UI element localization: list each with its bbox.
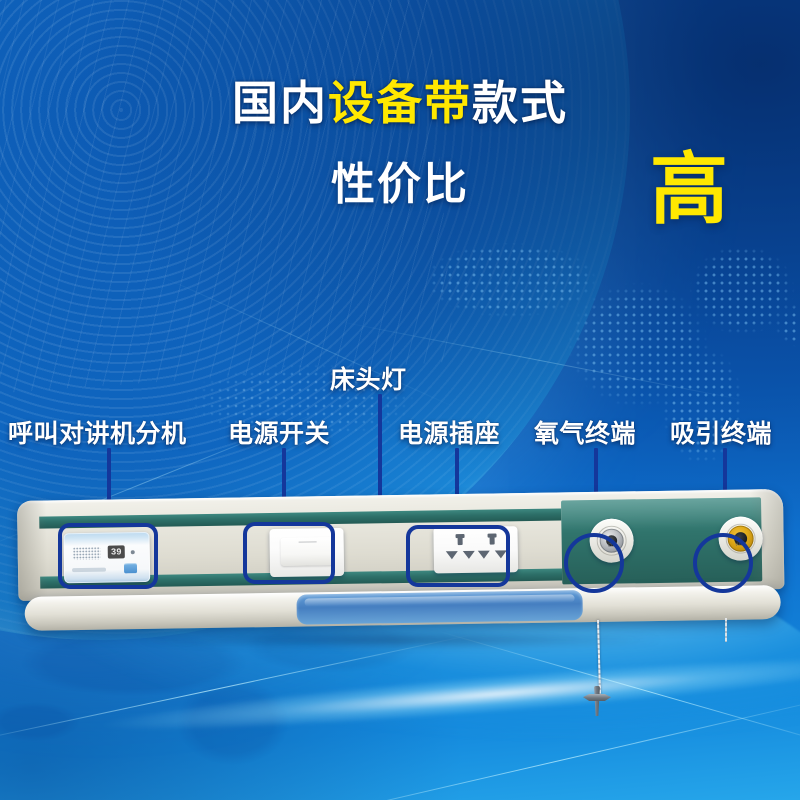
highlight-box-intercom bbox=[58, 523, 158, 589]
hook-vertical-part bbox=[594, 686, 600, 716]
callout-label-power-switch: 电源开关 bbox=[228, 414, 330, 450]
suction-hanger-cord bbox=[725, 618, 727, 642]
panel-rail-blue-overlay bbox=[296, 590, 582, 624]
cord-hook bbox=[583, 686, 611, 716]
callout-layer: 呼叫对讲机分机 电源开关 床头灯 电源插座 氧气终端 吸引终端 bbox=[0, 0, 800, 800]
callout-label-intercom: 呼叫对讲机分机 bbox=[8, 414, 187, 450]
highlight-circle-suction-terminal bbox=[693, 533, 753, 593]
hook-horizontal-part bbox=[583, 694, 611, 701]
callout-label-suction-terminal: 吸引终端 bbox=[670, 414, 772, 450]
callout-label-power-socket: 电源插座 bbox=[398, 414, 500, 450]
callout-label-bed-lamp: 床头灯 bbox=[330, 360, 407, 396]
highlight-circle-oxygen-terminal bbox=[564, 533, 624, 593]
callout-label-oxygen-terminal: 氧气终端 bbox=[534, 414, 636, 450]
promo-image: 国内设备带款式 性价比 高 呼叫对讲机分机 电源开关 床头灯 电源插座 氧气终端… bbox=[0, 0, 800, 800]
panel-end-cap-left bbox=[17, 500, 61, 601]
highlight-box-power-switch bbox=[243, 522, 335, 584]
highlight-box-power-socket bbox=[406, 525, 510, 587]
